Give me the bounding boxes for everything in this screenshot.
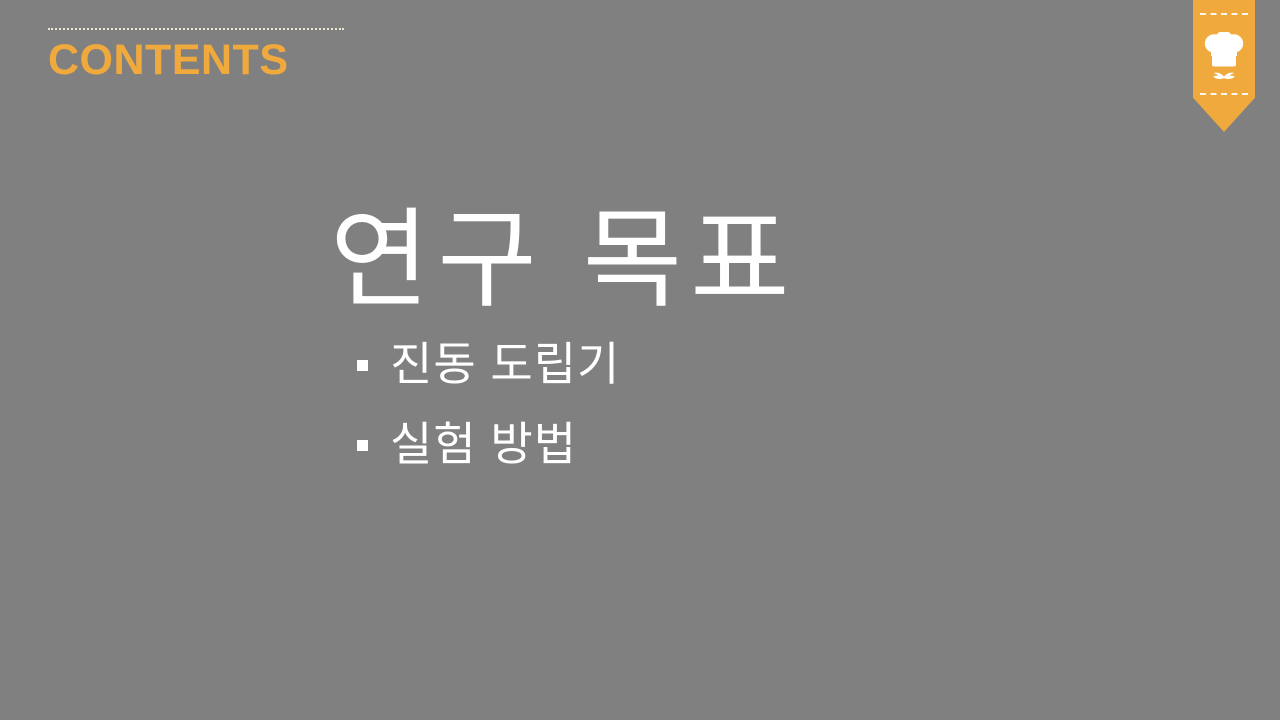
section-title: 연구 목표 — [330, 196, 1030, 323]
ribbon-dashed-line-top — [1200, 13, 1248, 15]
ribbon-dashed-line-bottom — [1200, 93, 1248, 95]
square-bullet-icon — [357, 360, 368, 371]
list-item: 실험 방법 — [357, 421, 1030, 467]
mustache-icon — [1213, 73, 1235, 79]
slide-header: CONTENTS — [48, 28, 348, 83]
square-bullet-icon — [357, 440, 368, 451]
contents-list: 진동 도립기 실험 방법 — [330, 341, 1030, 467]
list-item: 진동 도립기 — [357, 341, 1030, 387]
slide-body: 연구 목표 진동 도립기 실험 방법 — [330, 196, 1030, 501]
corner-ribbon — [1193, 0, 1255, 132]
list-item-label: 진동 도립기 — [390, 341, 620, 387]
presentation-slide: CONTENTS — [0, 0, 1280, 720]
page-title: CONTENTS — [48, 38, 348, 83]
chef-hat-icon — [1193, 32, 1255, 88]
header-divider — [48, 28, 344, 30]
list-item-label: 실험 방법 — [390, 421, 577, 467]
